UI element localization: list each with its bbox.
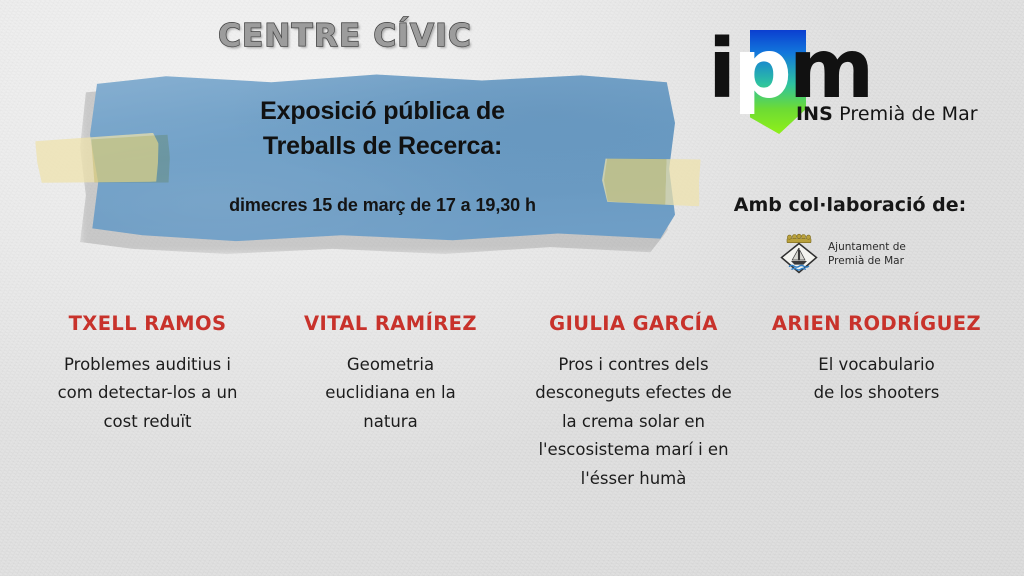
speaker-entry: ARIEN RODRÍGUEZ El vocabulario de los sh… [755, 312, 998, 408]
banner-title-line-2: Treballs de Recerca: [263, 132, 502, 160]
topic-line: cost reduït [32, 408, 263, 436]
ajuntament-logo: Ajuntament de Premià de Mar [778, 230, 978, 278]
speaker-name: VITAL RAMÍREZ [275, 312, 506, 335]
topic-line: El vocabulario [761, 351, 992, 379]
speaker-topic: El vocabulario de los shooters [761, 351, 992, 408]
topic-line: desconeguts efectes de [518, 379, 749, 407]
speaker-entry: GIULIA GARCÍA Pros i contres dels descon… [512, 312, 755, 493]
event-datetime: dimecres 15 de març de 17 a 19,30 h [229, 195, 536, 216]
poster-canvas: CENTRE CÍVIC Exposició pública de Trebal… [0, 0, 1024, 576]
ajuntament-crest-icon [778, 232, 820, 276]
ajuntament-name: Ajuntament de Premià de Mar [828, 240, 906, 268]
ipm-logo: ipm INS Premià de Mar [700, 24, 1000, 136]
topic-line: euclidiana en la [275, 379, 506, 407]
banner-text-group: Exposició pública de Treballs de Recerca… [90, 72, 675, 242]
topic-line: com detectar-los a un [32, 379, 263, 407]
speaker-name: TXELL RAMOS [32, 312, 263, 335]
topic-line: de los shooters [761, 379, 992, 407]
ipm-subtitle-rest: Premià de Mar [839, 103, 978, 125]
speaker-list: TXELL RAMOS Problemes auditius i com det… [0, 312, 1024, 493]
ajuntament-name-line-2: Premià de Mar [828, 254, 906, 268]
topic-line: l'escosistema marí i en [518, 436, 749, 464]
banner-title: Exposició pública de Treballs de Recerca… [260, 94, 505, 163]
speaker-topic: Geometria euclidiana en la natura [275, 351, 506, 436]
ipm-subtitle-ins: INS [796, 103, 833, 125]
speaker-name: GIULIA GARCÍA [518, 312, 749, 335]
topic-line: l'ésser humà [518, 465, 749, 493]
topic-line: natura [275, 408, 506, 436]
speaker-entry: VITAL RAMÍREZ Geometria euclidiana en la… [269, 312, 512, 436]
page-title: CENTRE CÍVIC [0, 18, 690, 54]
ipm-subtitle: INS Premià de Mar [796, 103, 978, 125]
ipm-letter-i: i [708, 22, 733, 117]
topic-line: Problemes auditius i [32, 351, 263, 379]
banner-title-line-1: Exposició pública de [260, 97, 505, 125]
speaker-entry: TXELL RAMOS Problemes auditius i com det… [26, 312, 269, 436]
topic-line: Geometria [275, 351, 506, 379]
collaboration-heading: Amb col·laboració de: [700, 194, 1000, 216]
speaker-topic: Pros i contres dels desconeguts efectes … [518, 351, 749, 493]
speaker-topic: Problemes auditius i com detectar-los a … [32, 351, 263, 436]
topic-line: la crema solar en [518, 408, 749, 436]
ipm-letter-p: p [733, 22, 789, 117]
ajuntament-name-line-1: Ajuntament de [828, 240, 906, 254]
speaker-name: ARIEN RODRÍGUEZ [761, 312, 992, 335]
topic-line: Pros i contres dels [518, 351, 749, 379]
